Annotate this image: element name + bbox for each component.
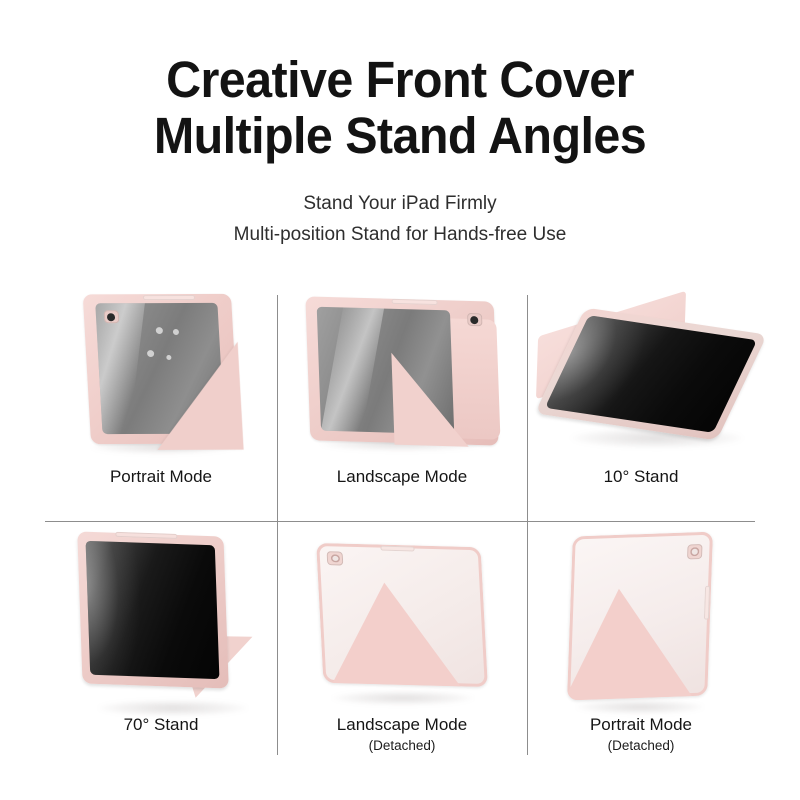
stand-flap [391,353,468,447]
camera-cutout-icon [687,544,703,560]
page-title: Creative Front Cover Multiple Stand Angl… [20,0,780,164]
product-image-portrait-mode [45,282,277,460]
pencil-slot [380,546,414,552]
ipad-landscape-attached-illustration [304,291,500,451]
grid-cell-landscape-mode: Landscape Mode [277,282,527,521]
caption-sub-landscape-mode-detached: (Detached) [369,736,436,755]
feature-grid-row-1: Portrait Mode Landscape Mode [45,282,755,521]
grid-cell-portrait-mode-detached: Portrait Mode (Detached) [527,528,755,772]
caption-landscape-mode: Landscape Mode [337,466,467,488]
product-image-landscape-mode [277,282,527,460]
case-landscape-detached-illustration [314,537,490,699]
stand-flap [567,586,697,700]
product-image-ten-degree-stand [527,282,755,460]
caption-portrait-mode-detached: Portrait Mode [590,714,692,736]
caption-landscape-mode-detached: Landscape Mode [337,714,467,736]
caption-seventy-degree-stand: 70° Stand [124,714,199,736]
case-portrait-detached-illustration [562,530,720,706]
drop-shadow [98,700,248,716]
caption-ten-degree-stand: 10° Stand [604,466,679,488]
product-image-seventy-degree-stand [45,528,277,708]
grid-cell-portrait-mode: Portrait Mode [45,282,277,521]
caption-portrait-mode: Portrait Mode [110,466,212,488]
feature-grid: Portrait Mode Landscape Mode [45,282,755,772]
stand-flap [326,581,462,687]
feature-grid-row-2: 70° Stand Landscape Mode (Detached) [45,528,755,772]
page-title-line-1: Creative Front Cover [20,52,780,108]
page-subtitle-line-2: Multi-position Stand for Hands-free Use [0,219,800,250]
caption-sub-portrait-mode-detached: (Detached) [608,736,675,755]
page-header: Creative Front Cover Multiple Stand Angl… [0,0,800,250]
camera-cutout-icon [327,551,344,565]
page-title-line-2: Multiple Stand Angles [20,108,780,164]
product-image-portrait-mode-detached [527,528,755,708]
grid-cell-seventy-degree-stand: 70° Stand [45,528,277,772]
pencil-slot [143,295,195,300]
drop-shadow [576,700,704,714]
camera-icon [104,310,120,323]
page-subtitle-line-1: Stand Your iPad Firmly [0,188,800,219]
product-image-landscape-mode-detached [277,528,527,708]
camera-icon [467,313,482,326]
stand-flap [151,342,243,450]
page-subtitle: Stand Your iPad Firmly Multi-position St… [0,164,800,250]
ipad-ten-degree-illustration [533,296,749,446]
ipad-portrait-attached-illustration [77,288,245,454]
ipad-seventy-degree-illustration [70,532,252,704]
grid-cell-landscape-mode-detached: Landscape Mode (Detached) [277,528,527,772]
tablet-screen [86,541,220,679]
drop-shadow [332,691,474,705]
grid-cell-ten-degree-stand: 10° Stand [527,282,755,521]
